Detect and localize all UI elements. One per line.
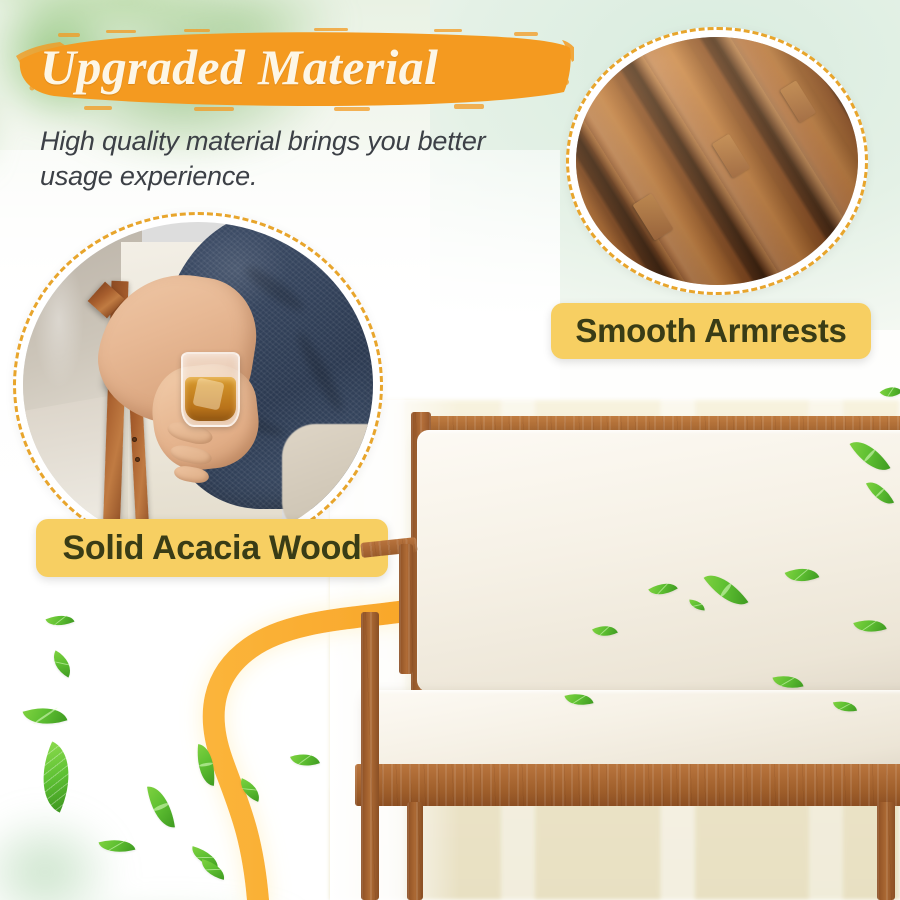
badge-smooth-armrests[interactable]: Smooth Armrests (551, 303, 871, 359)
photo-ice-cube (192, 377, 224, 410)
armrests-photo (576, 37, 858, 285)
bench-seat-rail (355, 764, 900, 806)
callout-photo-wood (13, 212, 383, 558)
bench-back-cushion (417, 430, 900, 692)
wood-slats-shading (576, 37, 858, 285)
page-title: Upgraded Material (40, 26, 580, 108)
bench-leg-right (877, 802, 895, 900)
product-bench (355, 372, 900, 900)
photo-whiskey-glass (181, 352, 241, 427)
bench-seat-cushion (365, 690, 900, 768)
wood-photo (23, 222, 373, 548)
callout-photo-armrests (566, 27, 868, 295)
bench-leg-left-inner (407, 802, 423, 900)
page-subtitle: High quality material brings you better … (40, 124, 560, 193)
infographic-canvas: Upgraded Material High quality material … (0, 0, 900, 900)
badge-solid-acacia-wood[interactable]: Solid Acacia Wood (36, 519, 388, 577)
bench-leg-front-left (361, 612, 379, 900)
photo-screw-2 (135, 457, 140, 462)
photo-screw-1 (132, 437, 137, 442)
bench-arm-support-left (399, 544, 413, 674)
